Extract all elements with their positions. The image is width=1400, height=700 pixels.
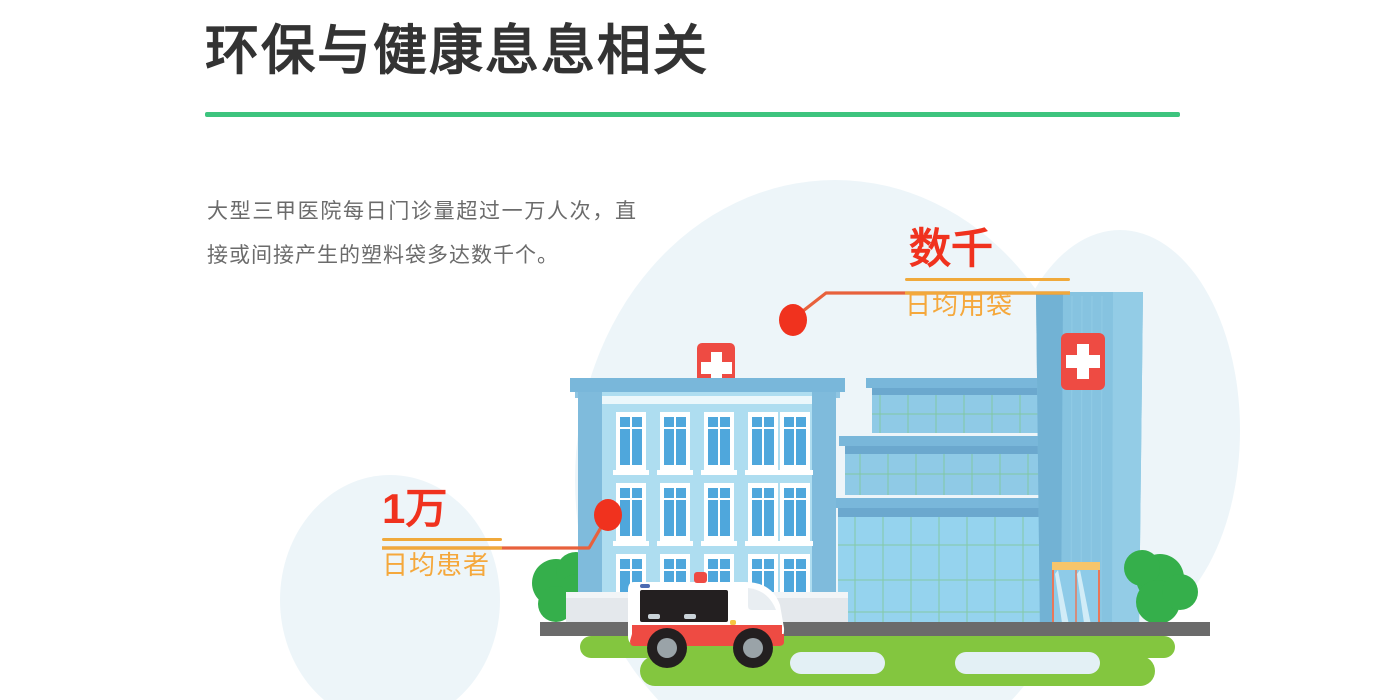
- callout-bags: 数千 日均用袋: [905, 228, 1070, 322]
- hospital-tower: [1036, 292, 1143, 632]
- building-windows: [613, 412, 813, 606]
- slide-canvas: 环保与健康息息相关 大型三甲医院每日门诊量超过一万人次，直接或间接产生的塑料袋多…: [0, 0, 1400, 700]
- callout-patients-value: 1万: [382, 488, 502, 530]
- callout-marker-bags: [779, 304, 807, 336]
- page-title: 环保与健康息息相关: [205, 22, 709, 81]
- callout-patients-rule: [382, 538, 502, 541]
- path-marking-2: [955, 652, 1100, 674]
- callout-bags-rule: [905, 278, 1070, 281]
- tower-entrance: [1052, 562, 1100, 630]
- title-underline: [205, 112, 1180, 117]
- callout-patients: 1万 日均患者: [382, 488, 502, 582]
- path-marking-1: [790, 652, 885, 674]
- callout-marker-patients: [594, 499, 622, 531]
- red-cross-sign-tower: [1061, 333, 1105, 390]
- body-paragraph: 大型三甲医院每日门诊量超过一万人次，直接或间接产生的塑料袋多达数千个。: [207, 190, 637, 278]
- callout-patients-label: 日均患者: [382, 545, 502, 582]
- callout-bags-label: 日均用袋: [905, 285, 1070, 322]
- hospital-illustration: [0, 0, 1400, 700]
- callout-bags-value: 数千: [905, 228, 1070, 270]
